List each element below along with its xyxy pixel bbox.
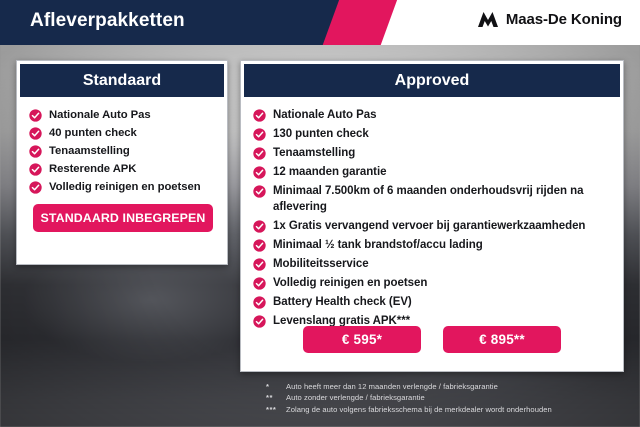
list-item: Resterende APK [29, 161, 219, 177]
promo-slide: Afleverpakketten Maas-De Koning Standaar… [0, 0, 640, 427]
feature-label: Minimaal ½ tank brandstof/accu lading [273, 237, 483, 253]
list-item: Battery Health check (EV) [253, 294, 615, 310]
card-body-approved: Nationale Auto Pas 130 punten check Tena… [241, 97, 623, 329]
list-item: Volledig reinigen en poetsen [253, 275, 615, 291]
list-item: 12 maanden garantie [253, 164, 615, 180]
feature-label: 40 punten check [49, 125, 137, 141]
check-circle-icon [253, 185, 266, 198]
footnote-text: Auto zonder verlengde / fabrieksgarantie [286, 392, 616, 403]
price-button-row: € 595* € 895** [241, 326, 623, 353]
footnotes: * Auto heeft meer dan 12 maanden verleng… [266, 381, 616, 415]
list-item: 40 punten check [29, 125, 219, 141]
check-circle-icon [29, 109, 42, 122]
package-card-approved: Approved Nationale Auto Pas 130 punten c… [240, 60, 624, 372]
brand-logo: Maas-De Koning [477, 11, 622, 28]
footnote-marker: * [266, 381, 286, 392]
page-title: Afleverpakketten [30, 10, 185, 32]
check-circle-icon [253, 296, 266, 309]
card-body-standaard: Nationale Auto Pas 40 punten check Tenaa… [17, 97, 227, 195]
feature-label: Nationale Auto Pas [49, 107, 151, 123]
check-circle-icon [253, 277, 266, 290]
footnote-row: * Auto heeft meer dan 12 maanden verleng… [266, 381, 616, 392]
feature-label: Mobiliteitsservice [273, 256, 369, 272]
list-item: Mobiliteitsservice [253, 256, 615, 272]
page-header: Afleverpakketten Maas-De Koning [0, 0, 640, 45]
check-circle-icon [253, 258, 266, 271]
footnote-text: Auto heeft meer dan 12 maanden verlengde… [286, 381, 616, 392]
brand-name: Maas-De Koning [506, 11, 622, 28]
footnote-marker: ** [266, 392, 286, 403]
list-item: Nationale Auto Pas [29, 107, 219, 123]
check-circle-icon [253, 220, 266, 233]
feature-list-standaard: Nationale Auto Pas 40 punten check Tenaa… [17, 107, 227, 195]
footnote-row: ** Auto zonder verlengde / fabrieksgaran… [266, 392, 616, 403]
feature-label: Tenaamstelling [273, 145, 355, 161]
feature-label: Volledig reinigen en poetsen [49, 179, 201, 195]
check-circle-icon [253, 166, 266, 179]
list-item: Tenaamstelling [253, 145, 615, 161]
feature-label: Battery Health check (EV) [273, 294, 412, 310]
list-item: Minimaal 7.500km of 6 maanden onderhouds… [253, 183, 615, 215]
check-circle-icon [253, 109, 266, 122]
list-item: 1x Gratis vervangend vervoer bij garanti… [253, 218, 615, 234]
footnote-row: *** Zolang de auto volgens fabrieksschem… [266, 404, 616, 415]
price-button-895[interactable]: € 895** [443, 326, 561, 353]
footnote-marker: *** [266, 404, 286, 415]
maas-de-koning-m-logo-icon [477, 11, 499, 28]
card-title-standaard: Standaard [20, 64, 224, 97]
price-button-595[interactable]: € 595* [303, 326, 421, 353]
check-circle-icon [253, 239, 266, 252]
check-circle-icon [29, 127, 42, 140]
feature-label: 12 maanden garantie [273, 164, 386, 180]
feature-label: Resterende APK [49, 161, 136, 177]
list-item: Tenaamstelling [29, 143, 219, 159]
list-item: 130 punten check [253, 126, 615, 142]
feature-label: Tenaamstelling [49, 143, 130, 159]
check-circle-icon [29, 163, 42, 176]
list-item: Nationale Auto Pas [253, 107, 615, 123]
feature-label: Minimaal 7.500km of 6 maanden onderhouds… [273, 183, 615, 215]
package-card-standaard: Standaard Nationale Auto Pas 40 punten c… [16, 60, 228, 265]
list-item: Volledig reinigen en poetsen [29, 179, 219, 195]
feature-label: Nationale Auto Pas [273, 107, 376, 123]
feature-list-approved: Nationale Auto Pas 130 punten check Tena… [241, 107, 623, 329]
footnote-text: Zolang de auto volgens fabrieksschema bi… [286, 404, 616, 415]
list-item: Minimaal ½ tank brandstof/accu lading [253, 237, 615, 253]
standaard-inbegrepen-button[interactable]: STANDAARD INBEGREPEN [33, 204, 213, 232]
feature-label: Volledig reinigen en poetsen [273, 275, 427, 291]
feature-label: 1x Gratis vervangend vervoer bij garanti… [273, 218, 585, 234]
feature-label: 130 punten check [273, 126, 369, 142]
check-circle-icon [253, 147, 266, 160]
check-circle-icon [253, 128, 266, 141]
card-title-approved: Approved [244, 64, 620, 97]
check-circle-icon [29, 145, 42, 158]
check-circle-icon [29, 181, 42, 194]
